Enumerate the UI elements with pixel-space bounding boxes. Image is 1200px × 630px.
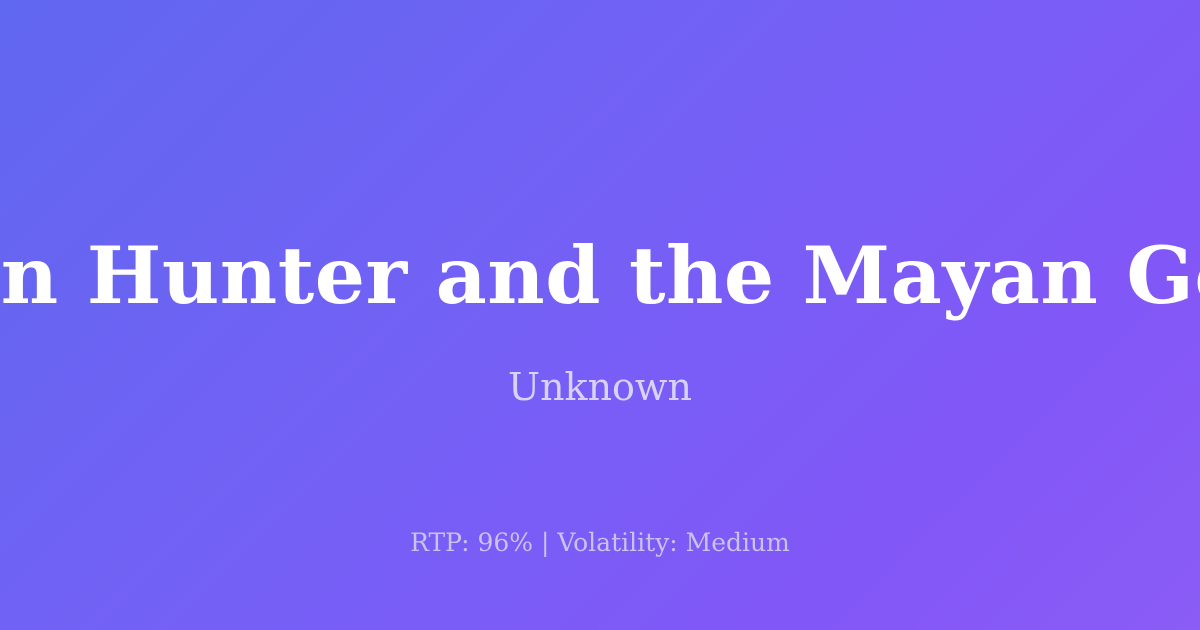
page-title: John Hunter and the Mayan Gods [0, 228, 1200, 324]
game-stats-line: RTP: 96% | Volatility: Medium [0, 527, 1200, 559]
page-title-row: John Hunter and the Mayan Gods [0, 228, 1200, 324]
provider-name: Unknown [0, 362, 1200, 412]
game-preview-card: John Hunter and the Mayan Gods Unknown R… [0, 0, 1200, 630]
